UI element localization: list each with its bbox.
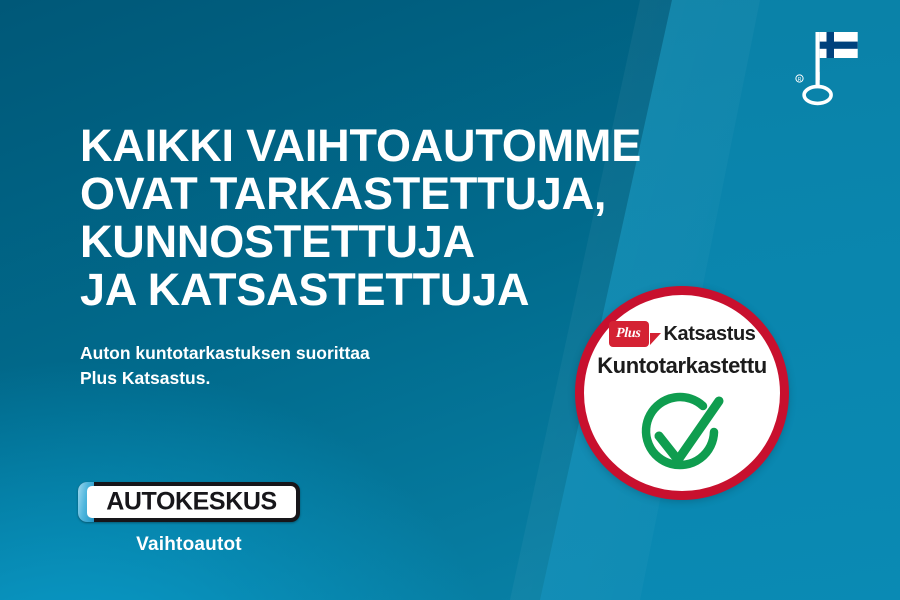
avainlippu-key-flag-icon: R — [790, 28, 862, 106]
subtitle-line-1: Auton kuntotarkastuksen suorittaa — [80, 341, 500, 366]
headline-line-3: KUNNOSTETTUJA — [80, 218, 680, 266]
headline-line-4: JA KATSASTETTUJA — [80, 266, 680, 314]
plus-katsastus-logo: Plus Katsastus — [584, 321, 780, 347]
logo-plate-inner: AUTOKESKUS — [87, 486, 296, 518]
plus-logo-text: Plus — [616, 326, 641, 342]
logo-plate: AUTOKESKUS — [78, 482, 300, 522]
logo-subtitle: Vaihtoautot — [78, 534, 300, 556]
promo-banner: R KAIKKI VAIHTOAUTOMME OVAT TARKASTETTUJ… — [0, 0, 900, 600]
badge-claim-text: Kuntotarkastettu — [584, 353, 780, 379]
status-badge: Plus Katsastus Kuntotarkastettu — [575, 286, 789, 500]
green-check-circle-icon — [629, 390, 735, 482]
page-title: KAIKKI VAIHTOAUTOMME OVAT TARKASTETTUJA,… — [80, 122, 680, 314]
headline-line-1: KAIKKI VAIHTOAUTOMME — [80, 122, 680, 170]
katsastus-wordmark: Katsastus — [664, 323, 756, 346]
subtitle: Auton kuntotarkastuksen suorittaa Plus K… — [80, 341, 500, 391]
headline-line-2: OVAT TARKASTETTUJA, — [80, 170, 680, 218]
logo-wordmark: AUTOKESKUS — [87, 488, 296, 517]
plus-logo-box: Plus — [609, 321, 649, 347]
subtitle-line-2: Plus Katsastus. — [80, 366, 500, 391]
plus-logo-tail-icon — [650, 333, 661, 345]
svg-text:R: R — [798, 77, 802, 83]
autokeskus-logo[interactable]: AUTOKESKUS Vaihtoautot — [78, 482, 300, 556]
